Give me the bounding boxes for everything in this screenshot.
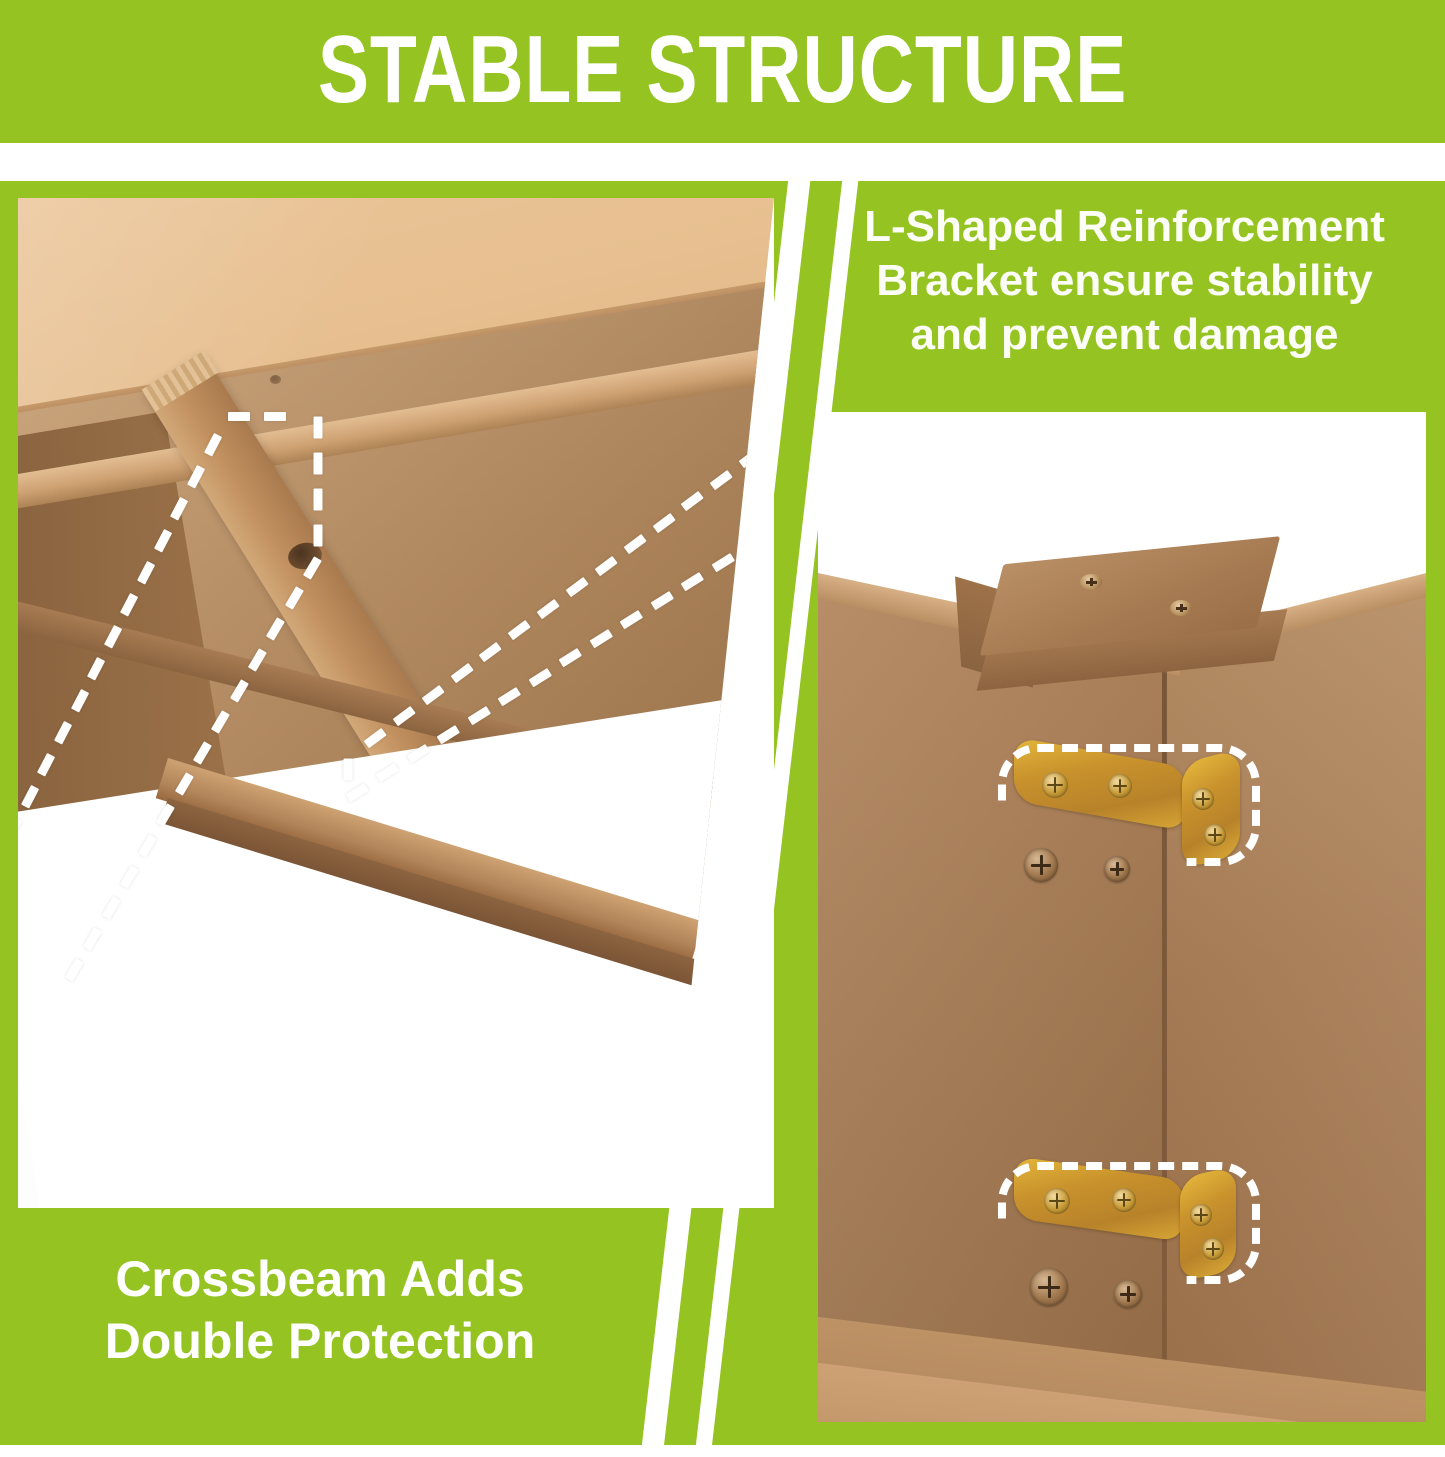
phillips-screw-icon [1024,848,1058,882]
dash-segment [314,452,323,474]
dash-segment [344,758,353,780]
header-divider [0,143,1445,181]
dash-segment [314,524,323,546]
dash-segment [264,412,286,421]
page-title: STABLE STRUCTURE [145,20,1301,120]
bracket-photo [818,412,1426,1422]
phillips-screw-icon [1114,1280,1142,1308]
dash-segment [314,488,323,510]
crossbeam-caption: Crossbeam Adds Double Protection [0,1248,640,1372]
phillips-screw-icon [1104,856,1130,882]
crossbeam-photo-clip [18,198,774,1208]
bracket-heading-line-1: L-Shaped Reinforcement [812,200,1437,254]
crossbeam-photo [18,198,774,1208]
bracket-heading: L-Shaped Reinforcement Bracket ensure st… [812,200,1437,362]
dash-segment [314,416,323,438]
bracket-heading-line-3: and prevent damage [812,308,1437,362]
bracket-heading-line-2: Bracket ensure stability [812,254,1437,308]
phillips-screw-icon [1170,600,1192,616]
infographic-canvas: STABLE STRUCTURE [0,0,1445,1445]
right-side-panel [1166,545,1426,1422]
phillips-screw-icon [1080,574,1102,590]
dash-segment [228,412,250,421]
header-band: STABLE STRUCTURE [0,0,1445,143]
phillips-screw-icon [1030,1268,1068,1306]
crossbeam-caption-line-2: Double Protection [0,1310,640,1372]
wood-knot [270,375,281,384]
crossbeam-caption-line-1: Crossbeam Adds [0,1248,640,1310]
